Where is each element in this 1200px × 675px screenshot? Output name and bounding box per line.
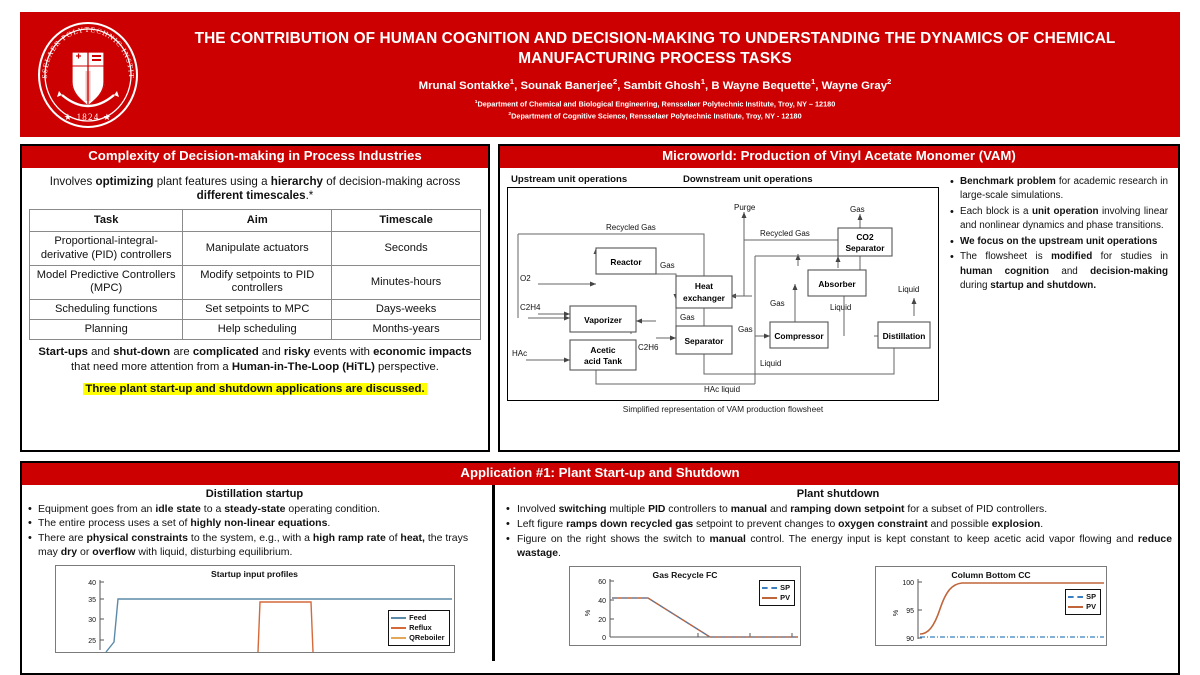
label-downstream: Downstream unit operations: [683, 174, 813, 185]
stream-label-recycled-gas-right: Recycled Gas: [760, 229, 810, 238]
ylabel-percent: %: [891, 609, 900, 616]
page-title: THE CONTRIBUTION OF HUMAN COGNITION AND …: [144, 29, 1166, 68]
cell-aim: Help scheduling: [183, 320, 332, 340]
chart-title: Column Bottom CC: [876, 570, 1106, 580]
table-row: Proportional-integral-derivative (PID) c…: [30, 232, 481, 266]
flowsheet-section-labels: Upstream unit operations Downstream unit…: [511, 174, 939, 185]
microworld-bullets: Benchmark problem for academic research …: [945, 173, 1171, 414]
panel-microworld: Microworld: Production of Vinyl Acetate …: [498, 144, 1180, 452]
ytick-0: 0: [602, 635, 606, 642]
complexity-highlight: Three plant start-up and shutdown applic…: [83, 383, 426, 395]
flowsheet-canvas: Reactor Vaporizer Acetic acid Tank Heat …: [507, 187, 939, 401]
subheading-distillation-startup: Distillation startup: [26, 488, 483, 500]
poster-root: ★ 1824 ★ RENSSELAER POLYTECHNIC INSTITUT…: [0, 0, 1200, 675]
stream-label-hac-liquid: HAc liquid: [704, 385, 740, 394]
author-list: Mrunal Sontakke1, Sounak Banerjee2, Samb…: [144, 77, 1166, 92]
svg-text:acid Tank: acid Tank: [584, 356, 622, 366]
ytick-95: 95: [906, 608, 914, 615]
table-header-row: Task Aim Timescale: [30, 210, 481, 232]
stream-label-gas-reactor: Gas: [660, 261, 675, 270]
column-header-timescale: Timescale: [332, 210, 481, 232]
svg-text:exchanger: exchanger: [683, 293, 726, 303]
legend-label: SP: [780, 583, 790, 593]
shutdown-charts-wrap: Gas Recycle FC 60 40 20 0: [504, 566, 1172, 646]
block-label-co2-separator: CO2: [856, 232, 874, 242]
column-header-aim: Aim: [183, 210, 332, 232]
flowsheet-caption: Simplified representation of VAM product…: [507, 404, 939, 414]
complexity-intro: Involves optimizing plant features using…: [33, 175, 477, 205]
block-label-vaporizer: Vaporizer: [584, 315, 622, 325]
list-item: The flowsheet is modified for studies in…: [949, 250, 1168, 294]
stream-label-recycled-gas-left: Recycled Gas: [606, 223, 656, 232]
cell-aim: Modify setpoints to PID controllers: [183, 266, 332, 300]
stream-label-c2h4: C2H4: [520, 303, 541, 312]
chart-title: Startup input profiles: [56, 569, 454, 579]
cell-task: Scheduling functions: [30, 299, 183, 319]
chart-title: Gas Recycle FC: [570, 570, 800, 580]
poster-header: ★ 1824 ★ RENSSELAER POLYTECHNIC INSTITUT…: [20, 12, 1180, 137]
svg-text:Separator: Separator: [845, 243, 885, 253]
ytick-35: 35: [88, 597, 96, 604]
panel-complexity-body: Involves optimizing plant features using…: [22, 168, 488, 401]
cell-timescale: Days-weeks: [332, 299, 481, 319]
chart-legend-column-bottom: SP PV: [1065, 589, 1101, 615]
cell-timescale: Minutes-hours: [332, 266, 481, 300]
chart-startup-input-profiles: Startup input profiles 40 35 30 25: [55, 565, 455, 653]
chart-startup-wrap: Startup input profiles 40 35 30 25: [26, 565, 483, 653]
application-columns: Distillation startup Equipment goes from…: [22, 485, 1178, 661]
panel-microworld-body: Upstream unit operations Downstream unit…: [500, 168, 1178, 418]
flowsheet-figure: Upstream unit operations Downstream unit…: [507, 173, 939, 414]
ytick-30: 30: [88, 617, 96, 624]
legend-label: PV: [1086, 602, 1096, 612]
cell-task: Planning: [30, 320, 183, 340]
list-item: There are physical constraints to the sy…: [26, 532, 483, 560]
affiliation-2: 2Department of Cognitive Science, Rensse…: [144, 111, 1166, 122]
cell-task: Proportional-integral-derivative (PID) c…: [30, 232, 183, 266]
ytick-40: 40: [88, 580, 96, 587]
legend-label: PV: [780, 593, 790, 603]
panel-microworld-heading: Microworld: Production of Vinyl Acetate …: [500, 146, 1178, 168]
list-item: Involved switching multiple PID controll…: [504, 503, 1172, 517]
ytick-90: 90: [906, 636, 914, 643]
cell-timescale: Seconds: [332, 232, 481, 266]
block-label-compressor: Compressor: [774, 331, 824, 341]
stream-label-gas-hx: Gas: [680, 313, 695, 322]
block-label-separator: Separator: [684, 336, 724, 346]
ytick-60: 60: [598, 579, 606, 586]
table-row: Scheduling functions Set setpoints to MP…: [30, 299, 481, 319]
panel-complexity: Complexity of Decision-making in Process…: [20, 144, 490, 452]
list-item: Each block is a unit operation involving…: [949, 205, 1168, 234]
legend-label: Feed: [409, 613, 426, 623]
column-header-task: Task: [30, 210, 183, 232]
list-item: The entire process uses a set of highly …: [26, 517, 483, 531]
block-label-absorber: Absorber: [818, 279, 856, 289]
vam-flowsheet-svg: Reactor Vaporizer Acetic acid Tank Heat …: [508, 188, 936, 396]
decision-hierarchy-table: Task Aim Timescale Proportional-integral…: [29, 209, 481, 340]
stream-label-hac: HAc: [512, 349, 527, 358]
list-item: Benchmark problem for academic research …: [949, 175, 1168, 204]
list-item: Left figure ramps down recycled gas setp…: [504, 518, 1172, 532]
list-item: Equipment goes from an idle state to a s…: [26, 503, 483, 517]
block-label-reactor: Reactor: [610, 257, 642, 267]
chart-gas-recycle-fc: Gas Recycle FC 60 40 20 0: [569, 566, 801, 646]
table-row: Planning Help scheduling Months-years: [30, 320, 481, 340]
affiliation-1: 1Department of Chemical and Biological E…: [144, 99, 1166, 110]
block-label-distillation: Distillation: [883, 331, 926, 341]
stream-label-gas-sep: Gas: [738, 325, 753, 334]
ylabel-percent: %: [583, 609, 592, 616]
table-body: Proportional-integral-derivative (PID) c…: [30, 232, 481, 340]
list-item: We focus on the upstream unit operations: [949, 235, 1168, 250]
affiliations: 1Department of Chemical and Biological E…: [144, 99, 1166, 122]
cell-aim: Set setpoints to MPC: [183, 299, 332, 319]
panel-application-heading: Application #1: Plant Start-up and Shutd…: [22, 463, 1178, 485]
chart-legend-startup: Feed Reflux QReboiler: [388, 610, 449, 646]
svg-text:★ 1824 ★: ★ 1824 ★: [64, 112, 112, 122]
table-row: Model Predictive Controllers (MPC) Modif…: [30, 266, 481, 300]
stream-label-liquid-sep: Liquid: [760, 359, 781, 368]
complexity-highlight-wrap: Three plant start-up and shutdown applic…: [29, 379, 481, 397]
stream-label-o2: O2: [520, 274, 531, 283]
rpi-seal-logo: ★ 1824 ★ RENSSELAER POLYTECHNIC INSTITUT…: [32, 19, 144, 131]
stream-label-liquid-absorber: Liquid: [830, 303, 851, 312]
panel-application: Application #1: Plant Start-up and Shutd…: [20, 461, 1180, 675]
legend-label: Reflux: [409, 623, 432, 633]
list-item: Figure on the right shows the switch to …: [504, 533, 1172, 561]
label-upstream: Upstream unit operations: [511, 174, 683, 185]
ytick-40: 40: [598, 598, 606, 605]
stream-label-c2h6: C2H6: [638, 343, 659, 352]
subheading-plant-shutdown: Plant shutdown: [504, 488, 1172, 500]
cell-timescale: Months-years: [332, 320, 481, 340]
stream-label-purge: Purge: [734, 203, 756, 212]
application-left-column: Distillation startup Equipment goes from…: [22, 485, 489, 661]
cell-aim: Manipulate actuators: [183, 232, 332, 266]
stream-label-liquid-dist: Liquid: [898, 285, 919, 294]
header-text-block: THE CONTRIBUTION OF HUMAN COGNITION AND …: [144, 27, 1180, 122]
legend-label: SP: [1086, 592, 1096, 602]
chart-legend-gas-recycle: SP PV: [759, 580, 795, 606]
chart-column-bottom-cc: Column Bottom CC 100 95 90: [875, 566, 1107, 646]
block-label-acetic-acid-tank: Acetic: [590, 345, 615, 355]
ytick-25: 25: [88, 638, 96, 645]
ytick-20: 20: [598, 617, 606, 624]
cell-task: Model Predictive Controllers (MPC): [30, 266, 183, 300]
complexity-outro: Start-ups and shut-down are complicated …: [31, 345, 479, 374]
legend-label: QReboiler: [409, 633, 444, 643]
column-divider: [492, 485, 495, 661]
stream-label-gas-comp: Gas: [770, 299, 785, 308]
stream-label-gas-co2: Gas: [850, 205, 865, 214]
block-label-heat-exchanger: Heat: [695, 281, 713, 291]
ytick-100: 100: [902, 580, 914, 587]
panel-complexity-heading: Complexity of Decision-making in Process…: [22, 146, 488, 168]
application-right-column: Plant shutdown Involved switching multip…: [498, 485, 1178, 661]
